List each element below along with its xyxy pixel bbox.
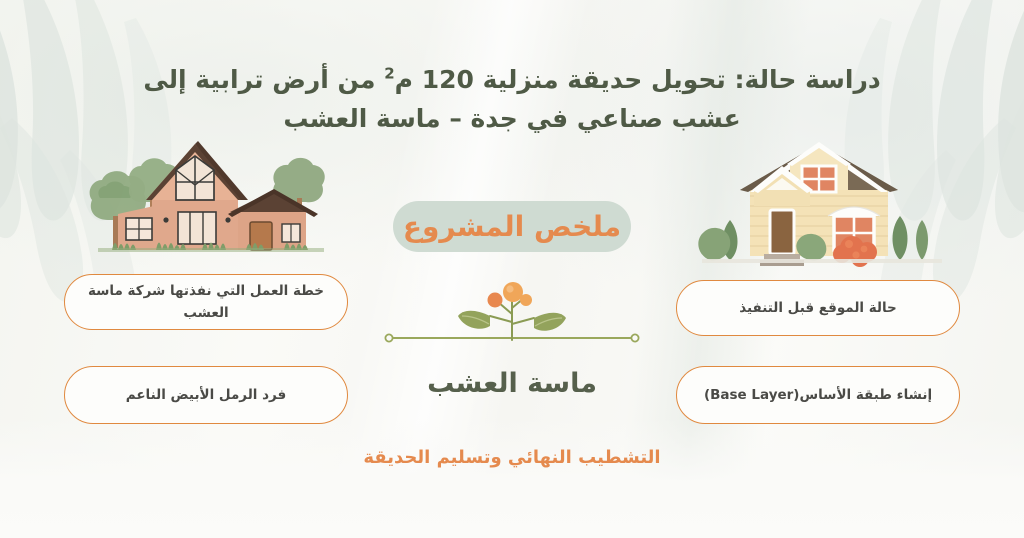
right-box-site-condition-label: حالة الموقع قبل التنفيذ bbox=[739, 297, 897, 319]
final-caption: التشطيب النهائي وتسليم الحديقة bbox=[0, 447, 1024, 469]
brand-name: ماسة العشب bbox=[0, 368, 1024, 400]
title-superscript: 2 bbox=[384, 64, 394, 82]
left-box-work-plan-label: خطة العمل التي نفذتها شركة ماسة العشب bbox=[87, 280, 325, 325]
page-title: دراسة حالة: تحويل حديقة منزلية 120 م2 من… bbox=[0, 61, 1024, 139]
project-summary-badge-label: ملخص المشروع bbox=[403, 213, 621, 241]
right-box-site-condition[interactable]: حالة الموقع قبل التنفيذ bbox=[676, 280, 960, 336]
title-line-2: العشب bbox=[283, 104, 367, 133]
left-box-work-plan[interactable]: خطة العمل التي نفذتها شركة ماسة العشب bbox=[64, 274, 348, 330]
infographic-canvas: دراسة حالة: تحويل حديقة منزلية 120 م2 من… bbox=[0, 0, 1024, 538]
project-summary-badge: ملخص المشروع bbox=[393, 201, 631, 252]
sprout-with-berries-icon bbox=[432, 272, 592, 342]
watercolor-house-cream-icon bbox=[692, 128, 954, 280]
watercolor-house-terracotta-icon bbox=[78, 128, 340, 280]
title-line-1-before: دراسة حالة: تحويل حديقة منزلية 120 م bbox=[395, 65, 881, 94]
bottom-fade bbox=[0, 418, 1024, 538]
